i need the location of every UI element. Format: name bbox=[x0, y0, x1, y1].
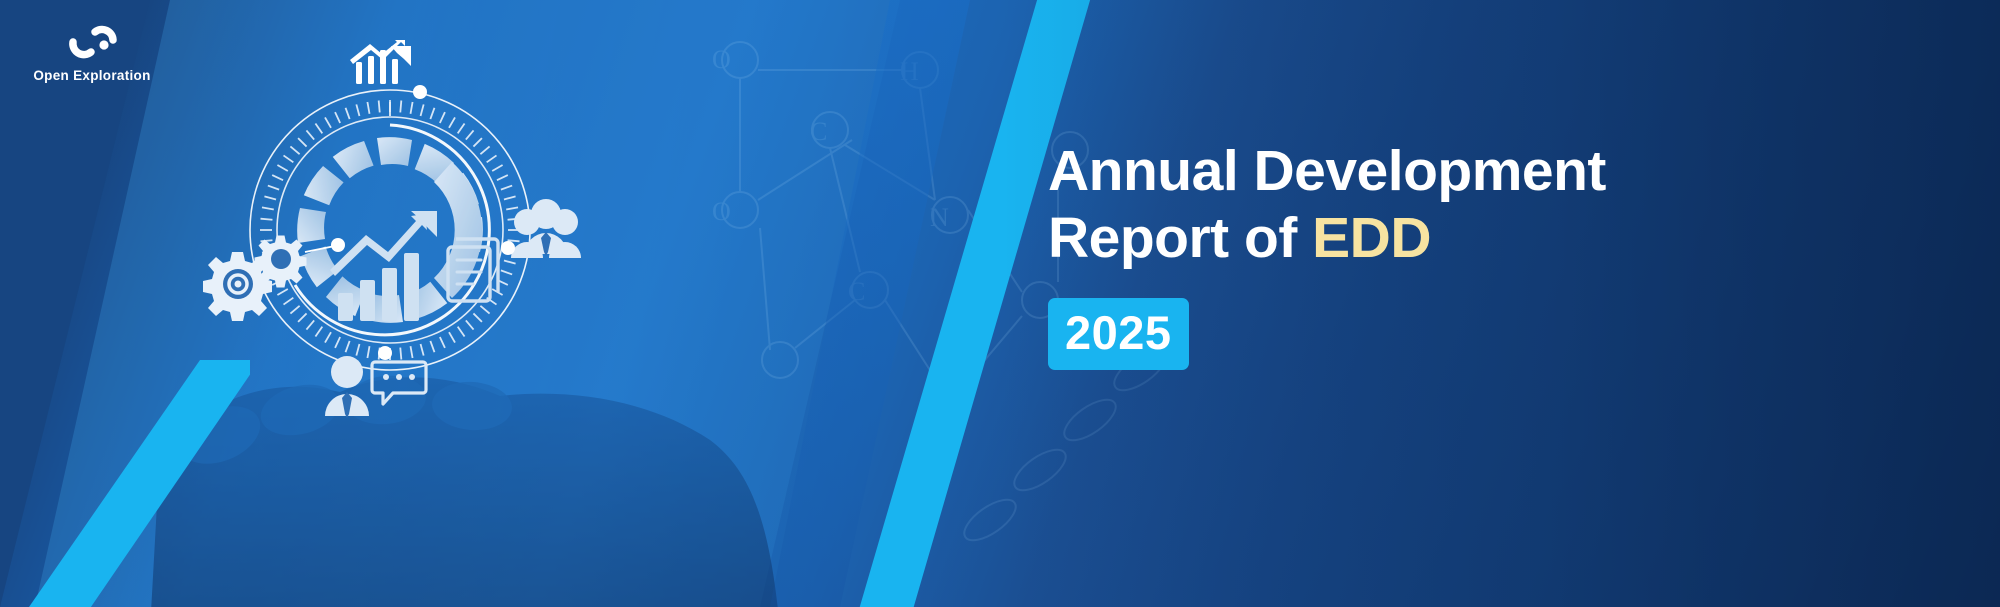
title-prefix: Report of bbox=[1048, 206, 1312, 270]
speech-bubble-icon bbox=[372, 362, 426, 404]
svg-text:N: N bbox=[930, 203, 949, 232]
svg-text:O: O bbox=[712, 197, 731, 226]
central-infographic bbox=[175, 40, 605, 440]
connector-dot-right bbox=[501, 241, 515, 255]
title-line-1: Annual Development bbox=[1048, 138, 1908, 205]
team-people-icon bbox=[511, 199, 581, 258]
svg-text:O: O bbox=[712, 45, 731, 74]
connector-dot-bottom bbox=[378, 346, 392, 360]
title-line-2: Report of EDD bbox=[1048, 205, 1908, 272]
year-badge: 2025 bbox=[1048, 298, 1189, 370]
connector-dot-left bbox=[331, 238, 345, 252]
person-speech-bubble-icon bbox=[325, 356, 369, 418]
title-accent-edd: EDD bbox=[1312, 206, 1431, 270]
brand-logo[interactable]: Open Exploration bbox=[22, 22, 162, 83]
page-title: Annual Development Report of EDD bbox=[1048, 138, 1908, 271]
headline-block: Annual Development Report of EDD 2025 bbox=[1048, 138, 1908, 370]
svg-text:C: C bbox=[810, 117, 827, 146]
connector-dot-top bbox=[413, 85, 427, 99]
gears-icon bbox=[203, 236, 307, 322]
brand-name: Open Exploration bbox=[22, 68, 162, 83]
speech-bubble-dots bbox=[383, 374, 415, 380]
line-chart-arrow-icon bbox=[350, 40, 411, 84]
banner-hero: OC OH NC Ope bbox=[0, 0, 2000, 607]
open-exploration-mark-icon bbox=[65, 22, 119, 62]
